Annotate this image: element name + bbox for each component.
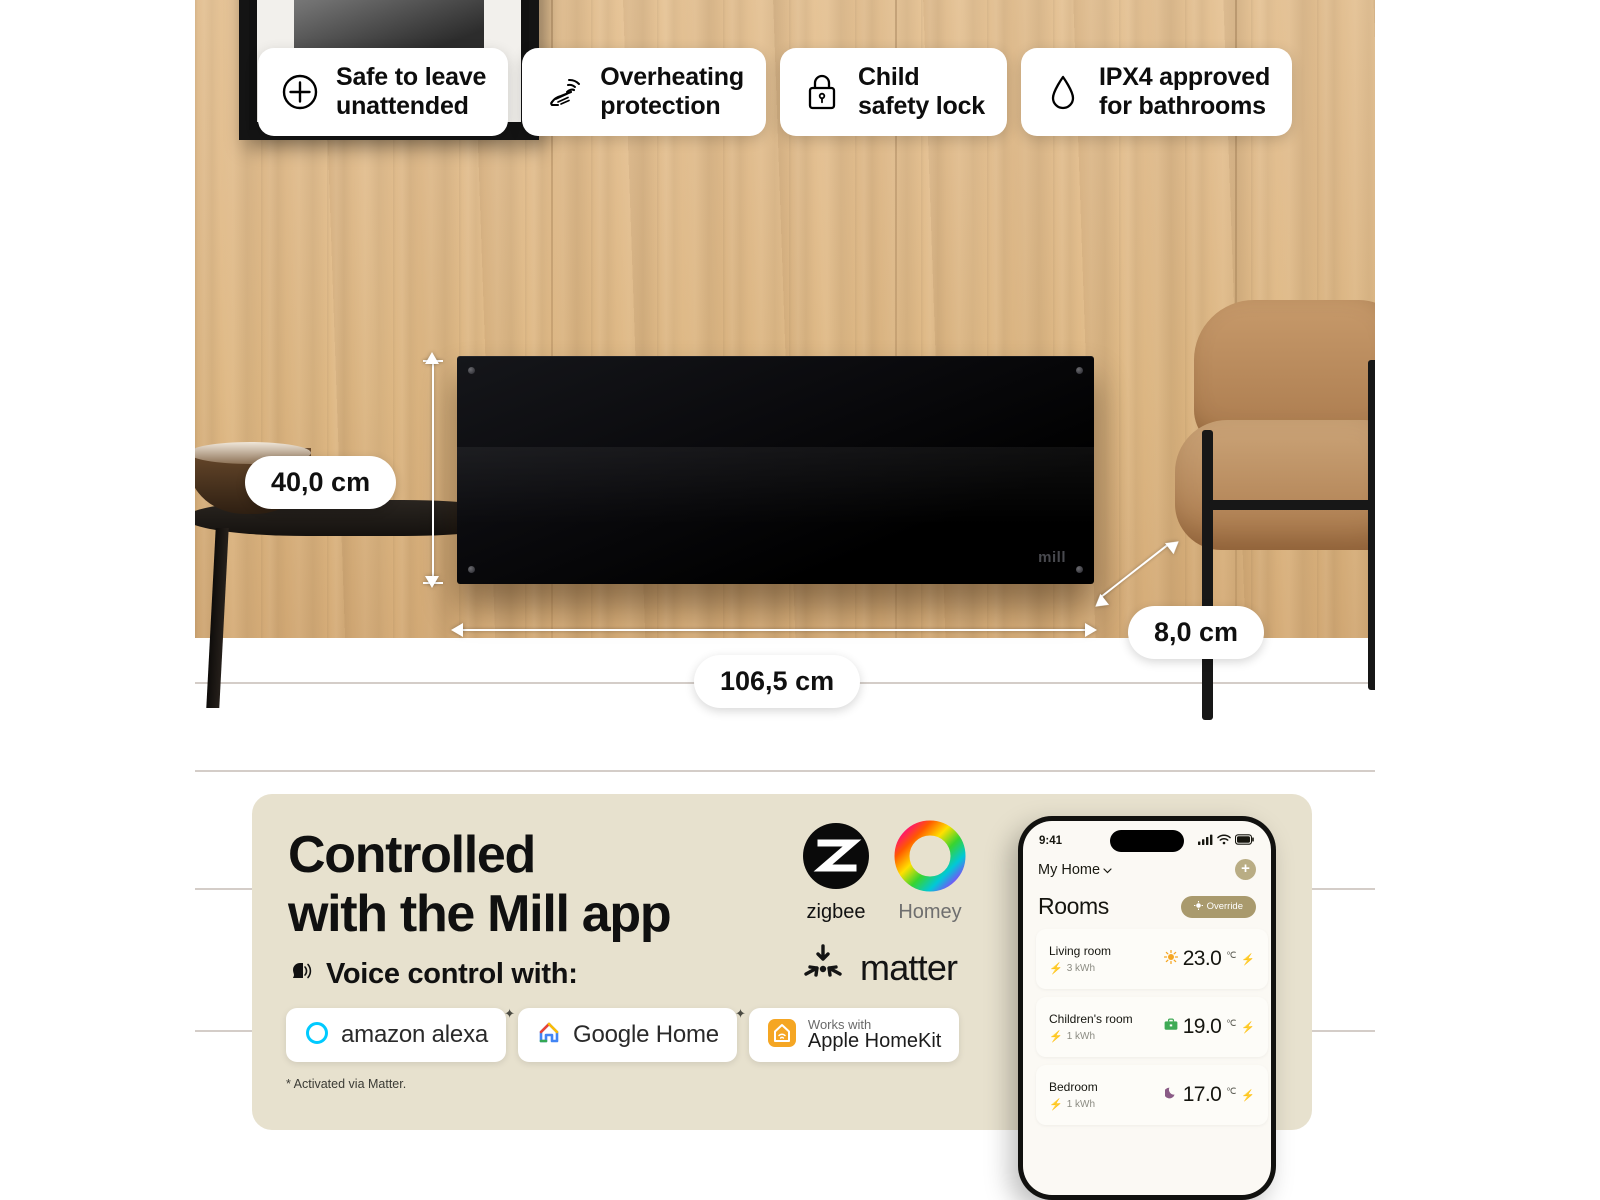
sun-icon bbox=[1164, 950, 1178, 969]
feature-line-1: Safe to leave bbox=[336, 63, 486, 91]
protocol-matter: matter bbox=[800, 942, 1040, 993]
protocol-homey: Homey bbox=[894, 820, 966, 924]
override-label: Override bbox=[1207, 901, 1243, 912]
armchair-frame-leg bbox=[1368, 360, 1375, 690]
assistant-label: amazon alexa bbox=[341, 1021, 488, 1049]
feature-badge-row: Safe to leave unattended Overheating pro… bbox=[258, 48, 1292, 136]
heater-screw bbox=[1076, 367, 1083, 374]
matter-footnote: * Activated via Matter. bbox=[286, 1077, 406, 1091]
room-list: Living room ⚡ 3 kWh 23.0 ℃ ⚡ bbox=[1036, 929, 1268, 1133]
heading-line-2: with the Mill app bbox=[288, 885, 670, 943]
padlock-icon bbox=[802, 70, 842, 114]
feature-badge-overheating: Overheating protection bbox=[522, 48, 766, 136]
bolt-icon: ⚡ bbox=[1049, 1030, 1063, 1043]
plus-circle-icon bbox=[280, 70, 320, 114]
room-info: Children's room ⚡ 1 kWh bbox=[1049, 1012, 1133, 1043]
protocol-zigbee: zigbee bbox=[800, 820, 872, 924]
room-status: 23.0 ℃ ⚡ bbox=[1164, 947, 1255, 971]
feature-badge-text: Child safety lock bbox=[858, 63, 985, 121]
temperature-unit: ℃ bbox=[1226, 1018, 1236, 1029]
rooms-title: Rooms bbox=[1038, 893, 1109, 920]
feature-badge-text: Overheating protection bbox=[600, 63, 744, 121]
protocol-logo-group: zigbee bbox=[800, 820, 1040, 993]
width-dimension-line bbox=[459, 629, 1093, 631]
feature-badge-safe-to-leave: Safe to leave unattended bbox=[258, 48, 508, 136]
add-device-button[interactable]: + bbox=[1235, 859, 1256, 880]
zigbee-logo bbox=[800, 820, 872, 897]
homekit-house-icon bbox=[767, 1018, 797, 1053]
moon-icon bbox=[1165, 1086, 1178, 1104]
speaking-head-icon bbox=[288, 959, 316, 990]
assistant-label: Google Home bbox=[573, 1021, 719, 1049]
alexa-ring-icon bbox=[304, 1020, 330, 1051]
room-temperature: 17.0 bbox=[1183, 1083, 1221, 1107]
rooms-section-header: Rooms Override bbox=[1023, 893, 1271, 920]
room-energy: ⚡ 1 kWh bbox=[1049, 1098, 1098, 1111]
room-status: 17.0 ℃ ⚡ bbox=[1165, 1083, 1255, 1107]
heater-screw bbox=[468, 367, 475, 374]
heater-reflection bbox=[457, 447, 1094, 525]
room-name: Bedroom bbox=[1049, 1080, 1098, 1094]
wifi-icon bbox=[1217, 834, 1231, 848]
room-energy-value: 3 kWh bbox=[1067, 963, 1095, 974]
feature-badge-ipx4: IPX4 approved for bathrooms bbox=[1021, 48, 1292, 136]
width-arrow-right bbox=[1085, 623, 1097, 637]
width-arrow-left bbox=[451, 623, 463, 637]
signal-icon bbox=[1198, 834, 1213, 848]
protocol-name: matter bbox=[860, 947, 957, 989]
room-status: 19.0 ℃ ⚡ bbox=[1164, 1015, 1255, 1039]
override-button[interactable]: Override bbox=[1181, 896, 1256, 918]
hand-heat-icon bbox=[544, 70, 584, 114]
depth-dimension-label: 8,0 cm bbox=[1128, 606, 1264, 659]
temperature-unit: ℃ bbox=[1226, 950, 1236, 961]
bolt-icon: ⚡ bbox=[1049, 962, 1063, 975]
assistant-label-small: Works with bbox=[808, 1018, 941, 1032]
homekit-label-stack: Works with Apple HomeKit bbox=[808, 1018, 941, 1053]
assistant-badge-alexa[interactable]: amazon alexa ✦ bbox=[286, 1008, 506, 1062]
phone-screen: 9:41 bbox=[1023, 821, 1271, 1195]
protocol-name: zigbee bbox=[807, 901, 866, 924]
status-bar: 9:41 bbox=[1023, 830, 1271, 852]
temperature-unit: ℃ bbox=[1226, 1086, 1236, 1097]
google-home-icon bbox=[536, 1020, 562, 1051]
assistant-badge-apple-homekit[interactable]: Works with Apple HomeKit bbox=[749, 1008, 959, 1062]
mill-brand-mark: mill bbox=[1038, 549, 1066, 566]
height-dimension-label: 40,0 cm bbox=[245, 456, 396, 509]
asterisk-marker: ✦ bbox=[504, 1006, 515, 1022]
heater-screw bbox=[1076, 566, 1083, 573]
floor-plank bbox=[195, 770, 1375, 772]
status-time: 9:41 bbox=[1039, 835, 1062, 847]
protocol-row-top: zigbee bbox=[800, 820, 1040, 924]
voice-control-label: Voice control with: bbox=[326, 958, 578, 991]
protocol-name: Homey bbox=[898, 901, 961, 924]
water-drop-icon bbox=[1043, 70, 1083, 114]
room-row-childrens-room[interactable]: Children's room ⚡ 1 kWh 19.0 ℃ ⚡ bbox=[1036, 997, 1268, 1057]
room-temperature: 23.0 bbox=[1183, 947, 1221, 971]
briefcase-icon bbox=[1164, 1018, 1178, 1036]
bolt-icon: ⚡ bbox=[1241, 953, 1255, 966]
assistant-badge-google-home[interactable]: Google Home ✦ bbox=[518, 1008, 737, 1062]
matter-logo bbox=[800, 942, 846, 993]
armchair-frame-bar bbox=[1209, 500, 1375, 510]
voice-control-row: Voice control with: bbox=[288, 958, 578, 991]
override-brightness-icon bbox=[1194, 901, 1203, 913]
mill-panel-heater: mill bbox=[457, 356, 1094, 584]
status-indicators bbox=[1198, 834, 1255, 848]
feature-line-1: IPX4 approved bbox=[1099, 63, 1270, 91]
feature-badge-text: IPX4 approved for bathrooms bbox=[1099, 63, 1270, 121]
feature-line-2: for bathrooms bbox=[1099, 92, 1266, 120]
room-temperature: 19.0 bbox=[1183, 1015, 1221, 1039]
feature-line-2: unattended bbox=[336, 92, 469, 120]
heater-screw bbox=[468, 566, 475, 573]
homey-logo bbox=[894, 820, 966, 897]
room-energy: ⚡ 1 kWh bbox=[1049, 1030, 1133, 1043]
armchair-frame-leg bbox=[1202, 430, 1213, 720]
feature-line-1: Overheating bbox=[600, 63, 744, 91]
feature-badge-text: Safe to leave unattended bbox=[336, 63, 486, 121]
room-energy: ⚡ 3 kWh bbox=[1049, 962, 1111, 975]
room-name: Children's room bbox=[1049, 1012, 1133, 1026]
assistant-label: Apple HomeKit bbox=[808, 1031, 941, 1052]
room-info: Living room ⚡ 3 kWh bbox=[1049, 944, 1111, 975]
bolt-icon: ⚡ bbox=[1241, 1089, 1255, 1102]
phone-mockup: 9:41 bbox=[1018, 816, 1276, 1200]
feature-badge-child-lock: Child safety lock bbox=[780, 48, 1007, 136]
feature-line-2: safety lock bbox=[858, 92, 985, 120]
room-info: Bedroom ⚡ 1 kWh bbox=[1049, 1080, 1098, 1111]
height-arrow-down bbox=[425, 576, 439, 588]
heading-line-1: Controlled bbox=[288, 826, 535, 884]
product-marketing-image: mill 40,0 cm 106,5 cm 8,0 cm bbox=[0, 0, 1600, 1200]
home-selector-label: My Home bbox=[1038, 862, 1100, 878]
bolt-icon: ⚡ bbox=[1049, 1098, 1063, 1111]
phone-header: My Home + bbox=[1023, 859, 1271, 880]
height-arrow-up bbox=[425, 352, 439, 364]
feature-line-1: Child bbox=[858, 63, 920, 91]
room-energy-value: 1 kWh bbox=[1067, 1099, 1095, 1110]
bolt-icon: ⚡ bbox=[1241, 1021, 1255, 1034]
height-dimension-line bbox=[432, 360, 434, 584]
feature-line-2: protection bbox=[600, 92, 720, 120]
chevron-down-icon bbox=[1103, 862, 1112, 878]
battery-icon bbox=[1235, 834, 1255, 848]
home-selector[interactable]: My Home bbox=[1038, 862, 1112, 878]
room-name: Living room bbox=[1049, 944, 1111, 958]
room-row-living-room[interactable]: Living room ⚡ 3 kWh 23.0 ℃ ⚡ bbox=[1036, 929, 1268, 989]
room-energy-value: 1 kWh bbox=[1067, 1031, 1095, 1042]
asterisk-marker: ✦ bbox=[735, 1006, 746, 1022]
width-dimension-label: 106,5 cm bbox=[694, 655, 860, 708]
room-row-bedroom[interactable]: Bedroom ⚡ 1 kWh 17.0 ℃ ⚡ bbox=[1036, 1065, 1268, 1125]
assistant-badge-row: amazon alexa ✦ Google Home ✦ bbox=[286, 1008, 959, 1062]
app-card-heading: Controlled with the Mill app bbox=[288, 826, 670, 944]
